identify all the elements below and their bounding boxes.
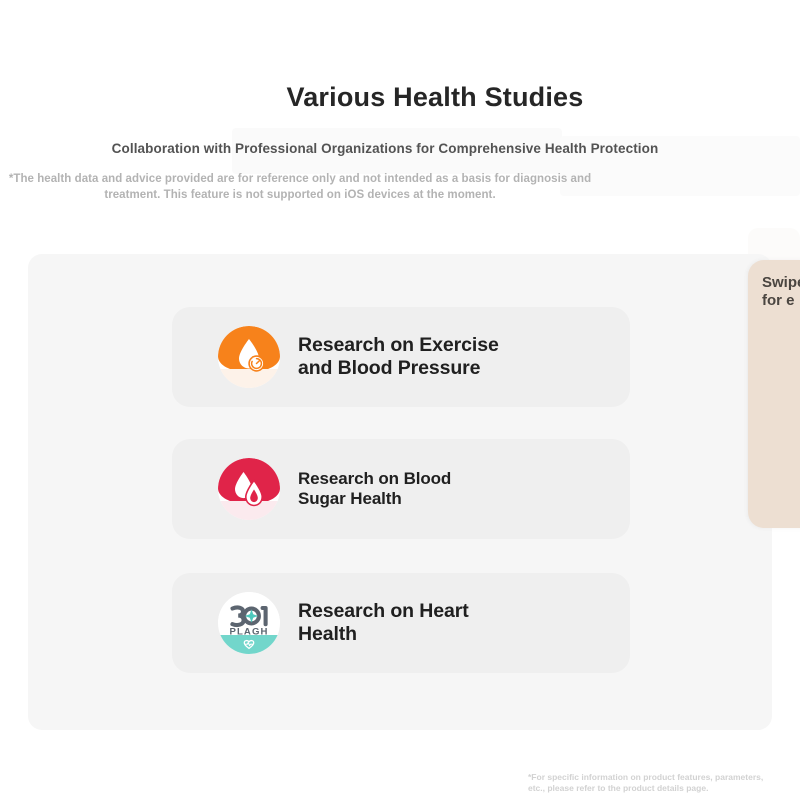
study-row-heart-health[interactable]: PLAGH Research on Heart Health [172,573,630,673]
swipe-hint-text: Swipe for e [762,274,800,311]
study-label: Research on Heart Health [298,600,469,646]
study-label: Research on Exercise and Blood Pressure [298,334,499,380]
page-title: Various Health Studies [0,82,800,113]
study-row-exercise-blood-pressure[interactable]: Research on Exercise and Blood Pressure [172,307,630,407]
study-row-blood-sugar[interactable]: Research on Blood Sugar Health [172,439,630,539]
product-details-footnote: *For specific information on product fea… [528,772,790,795]
page-subtitle: Collaboration with Professional Organiza… [0,140,770,157]
blood-pressure-droplet-gauge-icon [218,326,280,388]
plagh-301-heart-icon: PLAGH [218,592,280,654]
svg-text:PLAGH: PLAGH [229,627,268,638]
health-disclaimer-text: *The health data and advice provided are… [0,172,600,203]
blood-sugar-droplets-icon [218,458,280,520]
study-label: Research on Blood Sugar Health [298,469,451,509]
swipe-hint-card[interactable]: Swipe for e [748,260,800,528]
